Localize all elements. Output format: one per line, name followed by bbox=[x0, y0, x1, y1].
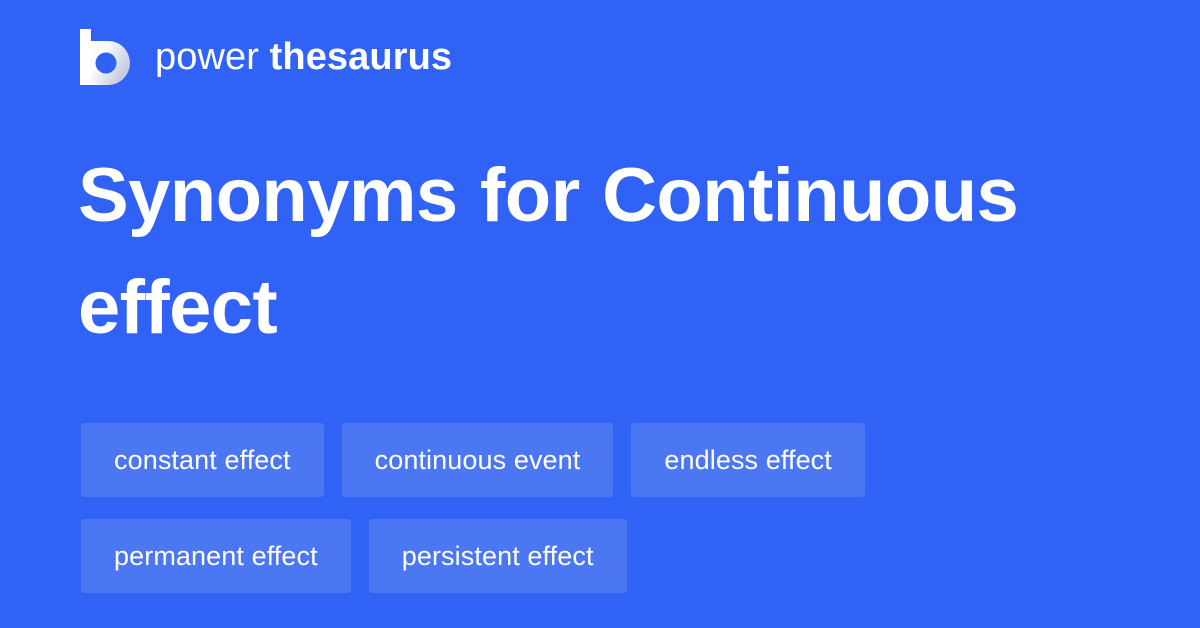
power-thesaurus-b-logo-icon bbox=[80, 29, 132, 85]
synonym-chip[interactable]: constant effect bbox=[81, 423, 324, 497]
synonym-chip[interactable]: continuous event bbox=[342, 423, 614, 497]
brand-name: power thesaurus bbox=[155, 38, 452, 76]
synonym-chip[interactable]: persistent effect bbox=[369, 519, 627, 593]
synonym-chip-list: constant effect continuous event endless… bbox=[81, 423, 1121, 593]
brand-name-thesaurus: thesaurus bbox=[270, 38, 453, 76]
page-title: Synonyms for Continuous effect bbox=[78, 140, 1118, 364]
synonym-chip[interactable]: permanent effect bbox=[81, 519, 351, 593]
brand-name-power: power bbox=[155, 38, 259, 76]
og-card: power thesaurus Synonyms for Continuous … bbox=[0, 0, 1200, 628]
synonym-chip[interactable]: endless effect bbox=[631, 423, 865, 497]
brand-logo[interactable]: power thesaurus bbox=[80, 29, 452, 85]
